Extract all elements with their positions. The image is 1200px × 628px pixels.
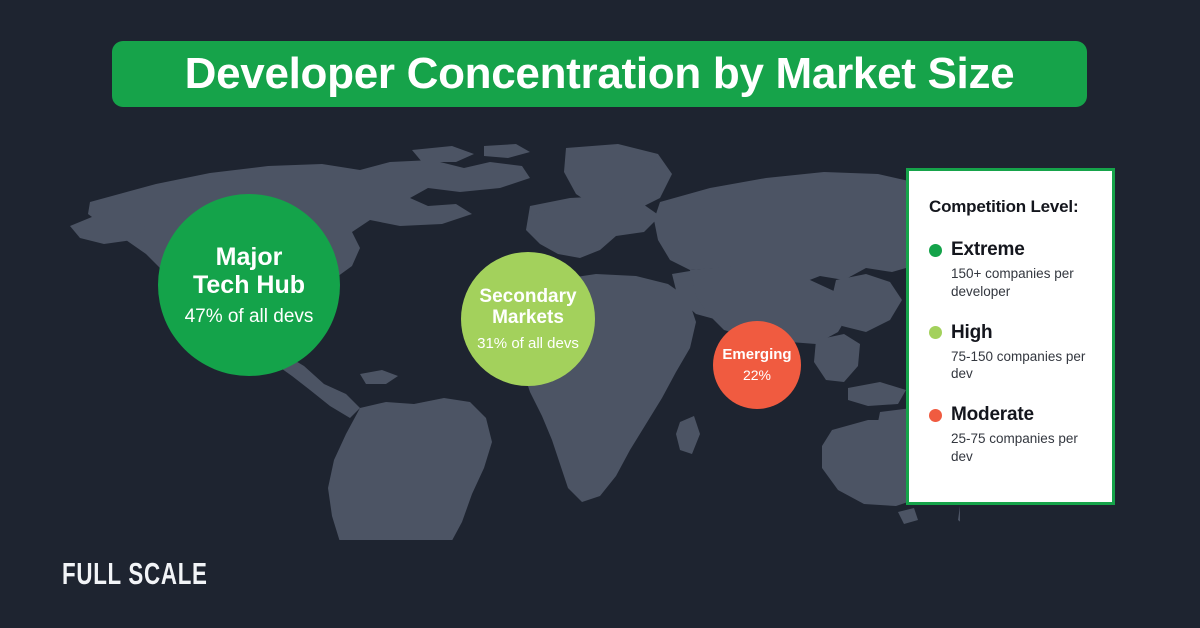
bubble-emerging-title: Emerging	[722, 347, 791, 364]
legend-desc-moderate: 25-75 companies per dev	[951, 430, 1094, 466]
legend-label-extreme: Extreme	[951, 239, 1025, 261]
legend-item-moderate: Moderate 25-75 companies per dev	[929, 404, 1094, 466]
legend-panel: Competition Level: Extreme 150+ companie…	[906, 168, 1115, 505]
legend-label-moderate: Moderate	[951, 404, 1034, 426]
legend-desc-high: 75-150 companies per dev	[951, 348, 1094, 384]
legend-item-high: High 75-150 companies per dev	[929, 322, 1094, 384]
legend-row-extreme: Extreme	[929, 239, 1094, 261]
bubble-secondary-markets[interactable]: Secondary Markets 31% of all devs	[461, 252, 595, 386]
legend-title: Competition Level:	[929, 197, 1094, 217]
bubble-major-tech-hub-title: Major Tech Hub	[193, 243, 305, 299]
legend-dot-moderate-icon	[929, 409, 942, 422]
legend-row-moderate: Moderate	[929, 404, 1094, 426]
legend-dot-high-icon	[929, 326, 942, 339]
bubble-secondary-markets-title: Secondary Markets	[479, 286, 576, 329]
infographic-canvas: Developer Concentration by Market Size	[0, 0, 1200, 628]
legend-item-extreme: Extreme 150+ companies per developer	[929, 239, 1094, 301]
bubble-emerging[interactable]: Emerging 22%	[713, 321, 801, 409]
full-scale-logo: FULL SCALE	[62, 556, 208, 592]
bubble-secondary-markets-value: 31% of all devs	[477, 335, 579, 352]
legend-dot-extreme-icon	[929, 244, 942, 257]
page-title: Developer Concentration by Market Size	[185, 52, 1015, 96]
bubble-major-tech-hub[interactable]: Major Tech Hub 47% of all devs	[158, 194, 340, 376]
bubble-emerging-value: 22%	[743, 367, 771, 383]
bubble-major-tech-hub-value: 47% of all devs	[185, 306, 314, 328]
legend-label-high: High	[951, 322, 992, 344]
legend-row-high: High	[929, 322, 1094, 344]
legend-desc-extreme: 150+ companies per developer	[951, 265, 1094, 301]
title-banner: Developer Concentration by Market Size	[112, 41, 1087, 107]
